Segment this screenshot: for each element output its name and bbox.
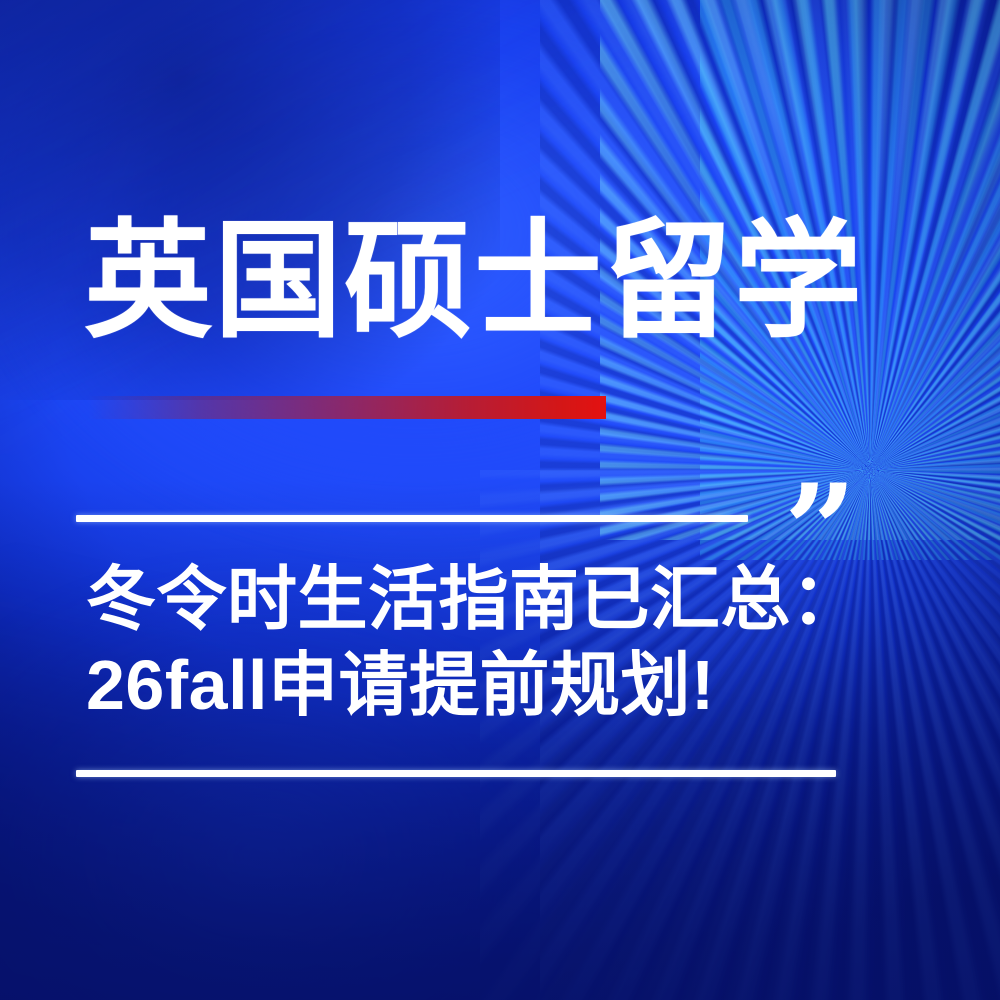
divider-top [76,515,748,522]
subtitle-block: 冬令时生活指南已汇总： 26fall申请提前规划! [86,556,862,728]
red-gradient-accent-bar [88,396,606,419]
poster-canvas: 英国硕士留学 ” 冬令时生活指南已汇总： 26fall申请提前规划! [0,0,1000,1000]
poster-content: 英国硕士留学 ” 冬令时生活指南已汇总： 26fall申请提前规划! [0,0,1000,1000]
page-title: 英国硕士留学 [84,218,864,346]
subtitle-line-2: 26fall申请提前规划! [86,642,862,728]
divider-bottom [76,770,836,777]
subtitle-line-1: 冬令时生活指南已汇总： [86,556,862,642]
